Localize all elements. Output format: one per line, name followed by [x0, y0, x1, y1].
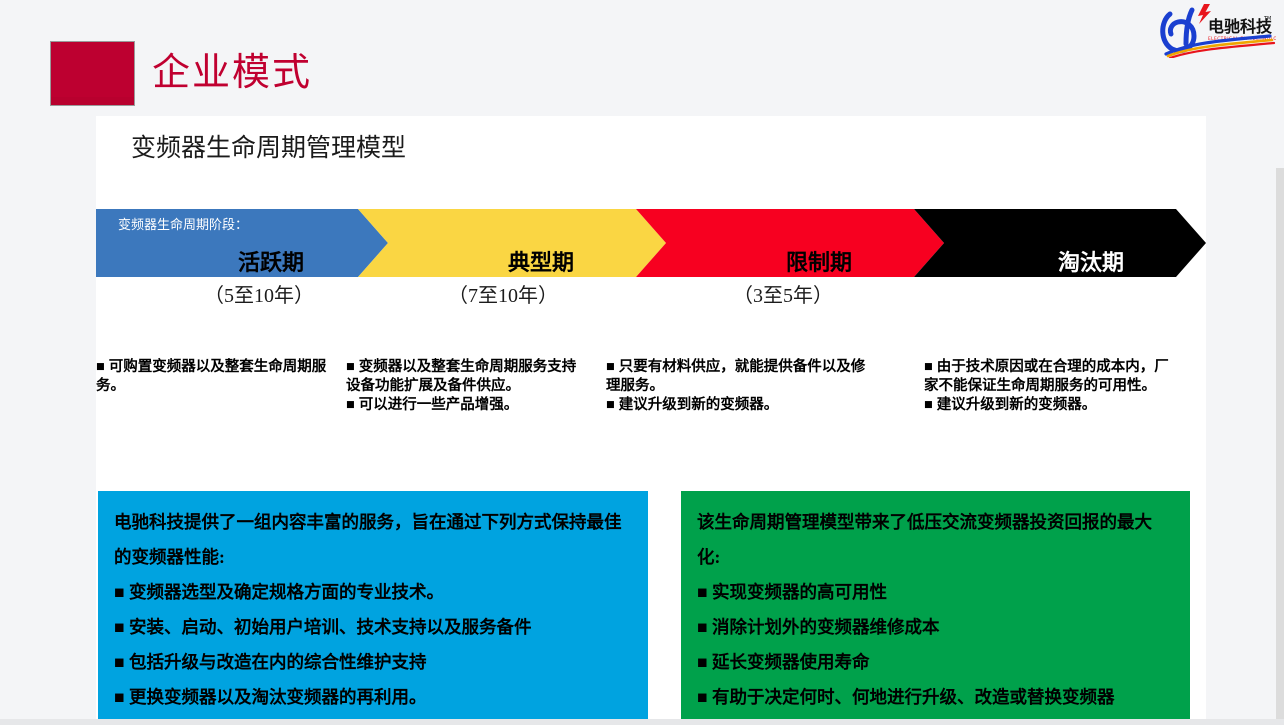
stage-notes-column-1: ■ 可购置变频器以及整套生命周期服务。 — [96, 358, 342, 396]
title-accent-square — [50, 41, 135, 106]
bullet-square-icon: ■ — [114, 652, 125, 672]
list-item: ■ 有助于决定何时、何地进行升级、改造或替换变频器 — [697, 680, 1174, 715]
stage-name-2: 典型期 — [426, 245, 656, 277]
band-caption: 变频器生命周期阶段： — [118, 214, 248, 233]
list-item: ■ 只要有材料供应，就能提供备件以及修理服务。 — [606, 358, 871, 396]
scrollbar-track[interactable] — [1276, 0, 1284, 725]
scrollbar-thumb[interactable] — [1276, 0, 1284, 168]
bullet-square-icon: ■ — [114, 582, 125, 602]
bullet-square-icon: ■ — [606, 359, 615, 375]
stage-duration-1: （5至10年） — [144, 279, 374, 308]
list-item: ■ 可购置变频器以及整套生命周期服务。 — [96, 358, 342, 396]
list-item: ■ 由于技术原因或在合理的成本内，厂家不能保证生命周期服务的可用性。 — [924, 358, 1169, 396]
content-panel: 变频器生命周期管理模型 变频器生命周期阶段： 活跃期 典型期 限制期 淘汰期 （… — [96, 116, 1206, 725]
lifecycle-chevron-band: 变频器生命周期阶段： 活跃期 典型期 限制期 淘汰期 （5至10年） （7至10… — [96, 209, 1206, 277]
slide-header: 企业模式 电驰科技 ELECTRICAL DH TECHNOLOGY TM — [0, 0, 1284, 115]
benefits-summary-box-green: 该生命周期管理模型带来了低压交流变频器投资回报的最大化: ■ 实现变频器的高可用… — [681, 491, 1190, 724]
bullet-square-icon: ■ — [606, 397, 615, 413]
list-item: ■ 变频器选型及确定规格方面的专业技术。 — [114, 575, 632, 610]
bullet-square-icon: ■ — [924, 359, 933, 375]
bullet-square-icon: ■ — [114, 617, 125, 637]
list-item: ■ 延长变频器使用寿命 — [697, 645, 1174, 680]
list-item: ■ 可以进行一些产品增强。 — [346, 396, 586, 415]
stage-notes-column-3: ■ 只要有材料供应，就能提供备件以及修理服务。 ■ 建议升级到新的变频器。 — [606, 358, 871, 415]
bullet-square-icon: ■ — [346, 397, 355, 413]
bullet-square-icon: ■ — [924, 397, 933, 413]
green-box-lead: 该生命周期管理模型带来了低压交流变频器投资回报的最大化: — [697, 505, 1174, 575]
list-item: ■ 更换变频器以及淘汰变频器的再利用。 — [114, 680, 632, 715]
list-item: ■ 安装、启动、初始用户培训、技术支持以及服务备件 — [114, 610, 632, 645]
list-item: ■ 变频器以及整套生命周期服务支持设备功能扩展及备件供应。 — [346, 358, 586, 396]
list-item: ■ 建议升级到新的变频器。 — [606, 396, 871, 415]
services-summary-box-blue: 电驰科技提供了一组内容丰富的服务，旨在通过下列方式保持最佳的变频器性能: ■ 变… — [98, 491, 648, 724]
stage-notes-column-2: ■ 变频器以及整套生命周期服务支持设备功能扩展及备件供应。 ■ 可以进行一些产品… — [346, 358, 586, 415]
stage-notes-column-4: ■ 由于技术原因或在合理的成本内，厂家不能保证生命周期服务的可用性。 ■ 建议升… — [924, 358, 1169, 415]
stage-duration-3: （3至5年） — [668, 279, 898, 308]
page-title: 企业模式 — [152, 41, 312, 96]
list-item: ■ 实现变频器的高可用性 — [697, 575, 1174, 610]
blue-box-lead: 电驰科技提供了一组内容丰富的服务，旨在通过下列方式保持最佳的变频器性能: — [114, 505, 632, 575]
bullet-square-icon: ■ — [96, 359, 105, 375]
svg-text:TM: TM — [1263, 16, 1271, 22]
stage-duration-2: （7至10年） — [388, 279, 618, 308]
diagram-heading: 变频器生命周期管理模型 — [131, 128, 406, 164]
company-logo: 电驰科技 ELECTRICAL DH TECHNOLOGY TM — [1158, 2, 1276, 58]
title-accent-square-fill — [51, 42, 134, 97]
stage-name-4: 淘汰期 — [976, 245, 1206, 277]
stage-name-3: 限制期 — [704, 245, 934, 277]
list-item: ■ 消除计划外的变频器维修成本 — [697, 610, 1174, 645]
bullet-square-icon: ■ — [697, 582, 708, 602]
bullet-square-icon: ■ — [697, 687, 708, 707]
list-item: ■ 建议升级到新的变频器。 — [924, 396, 1169, 415]
slide-root: 企业模式 电驰科技 ELECTRICAL DH TECHNOLOGY TM — [0, 0, 1284, 725]
bullet-square-icon: ■ — [346, 359, 355, 375]
bullet-square-icon: ■ — [697, 652, 708, 672]
bottom-edge-strip — [0, 719, 1284, 725]
stage-name-1: 活跃期 — [156, 245, 386, 277]
bullet-square-icon: ■ — [697, 617, 708, 637]
list-item: ■ 包括升级与改造在内的综合性维护支持 — [114, 645, 632, 680]
bullet-square-icon: ■ — [114, 687, 125, 707]
